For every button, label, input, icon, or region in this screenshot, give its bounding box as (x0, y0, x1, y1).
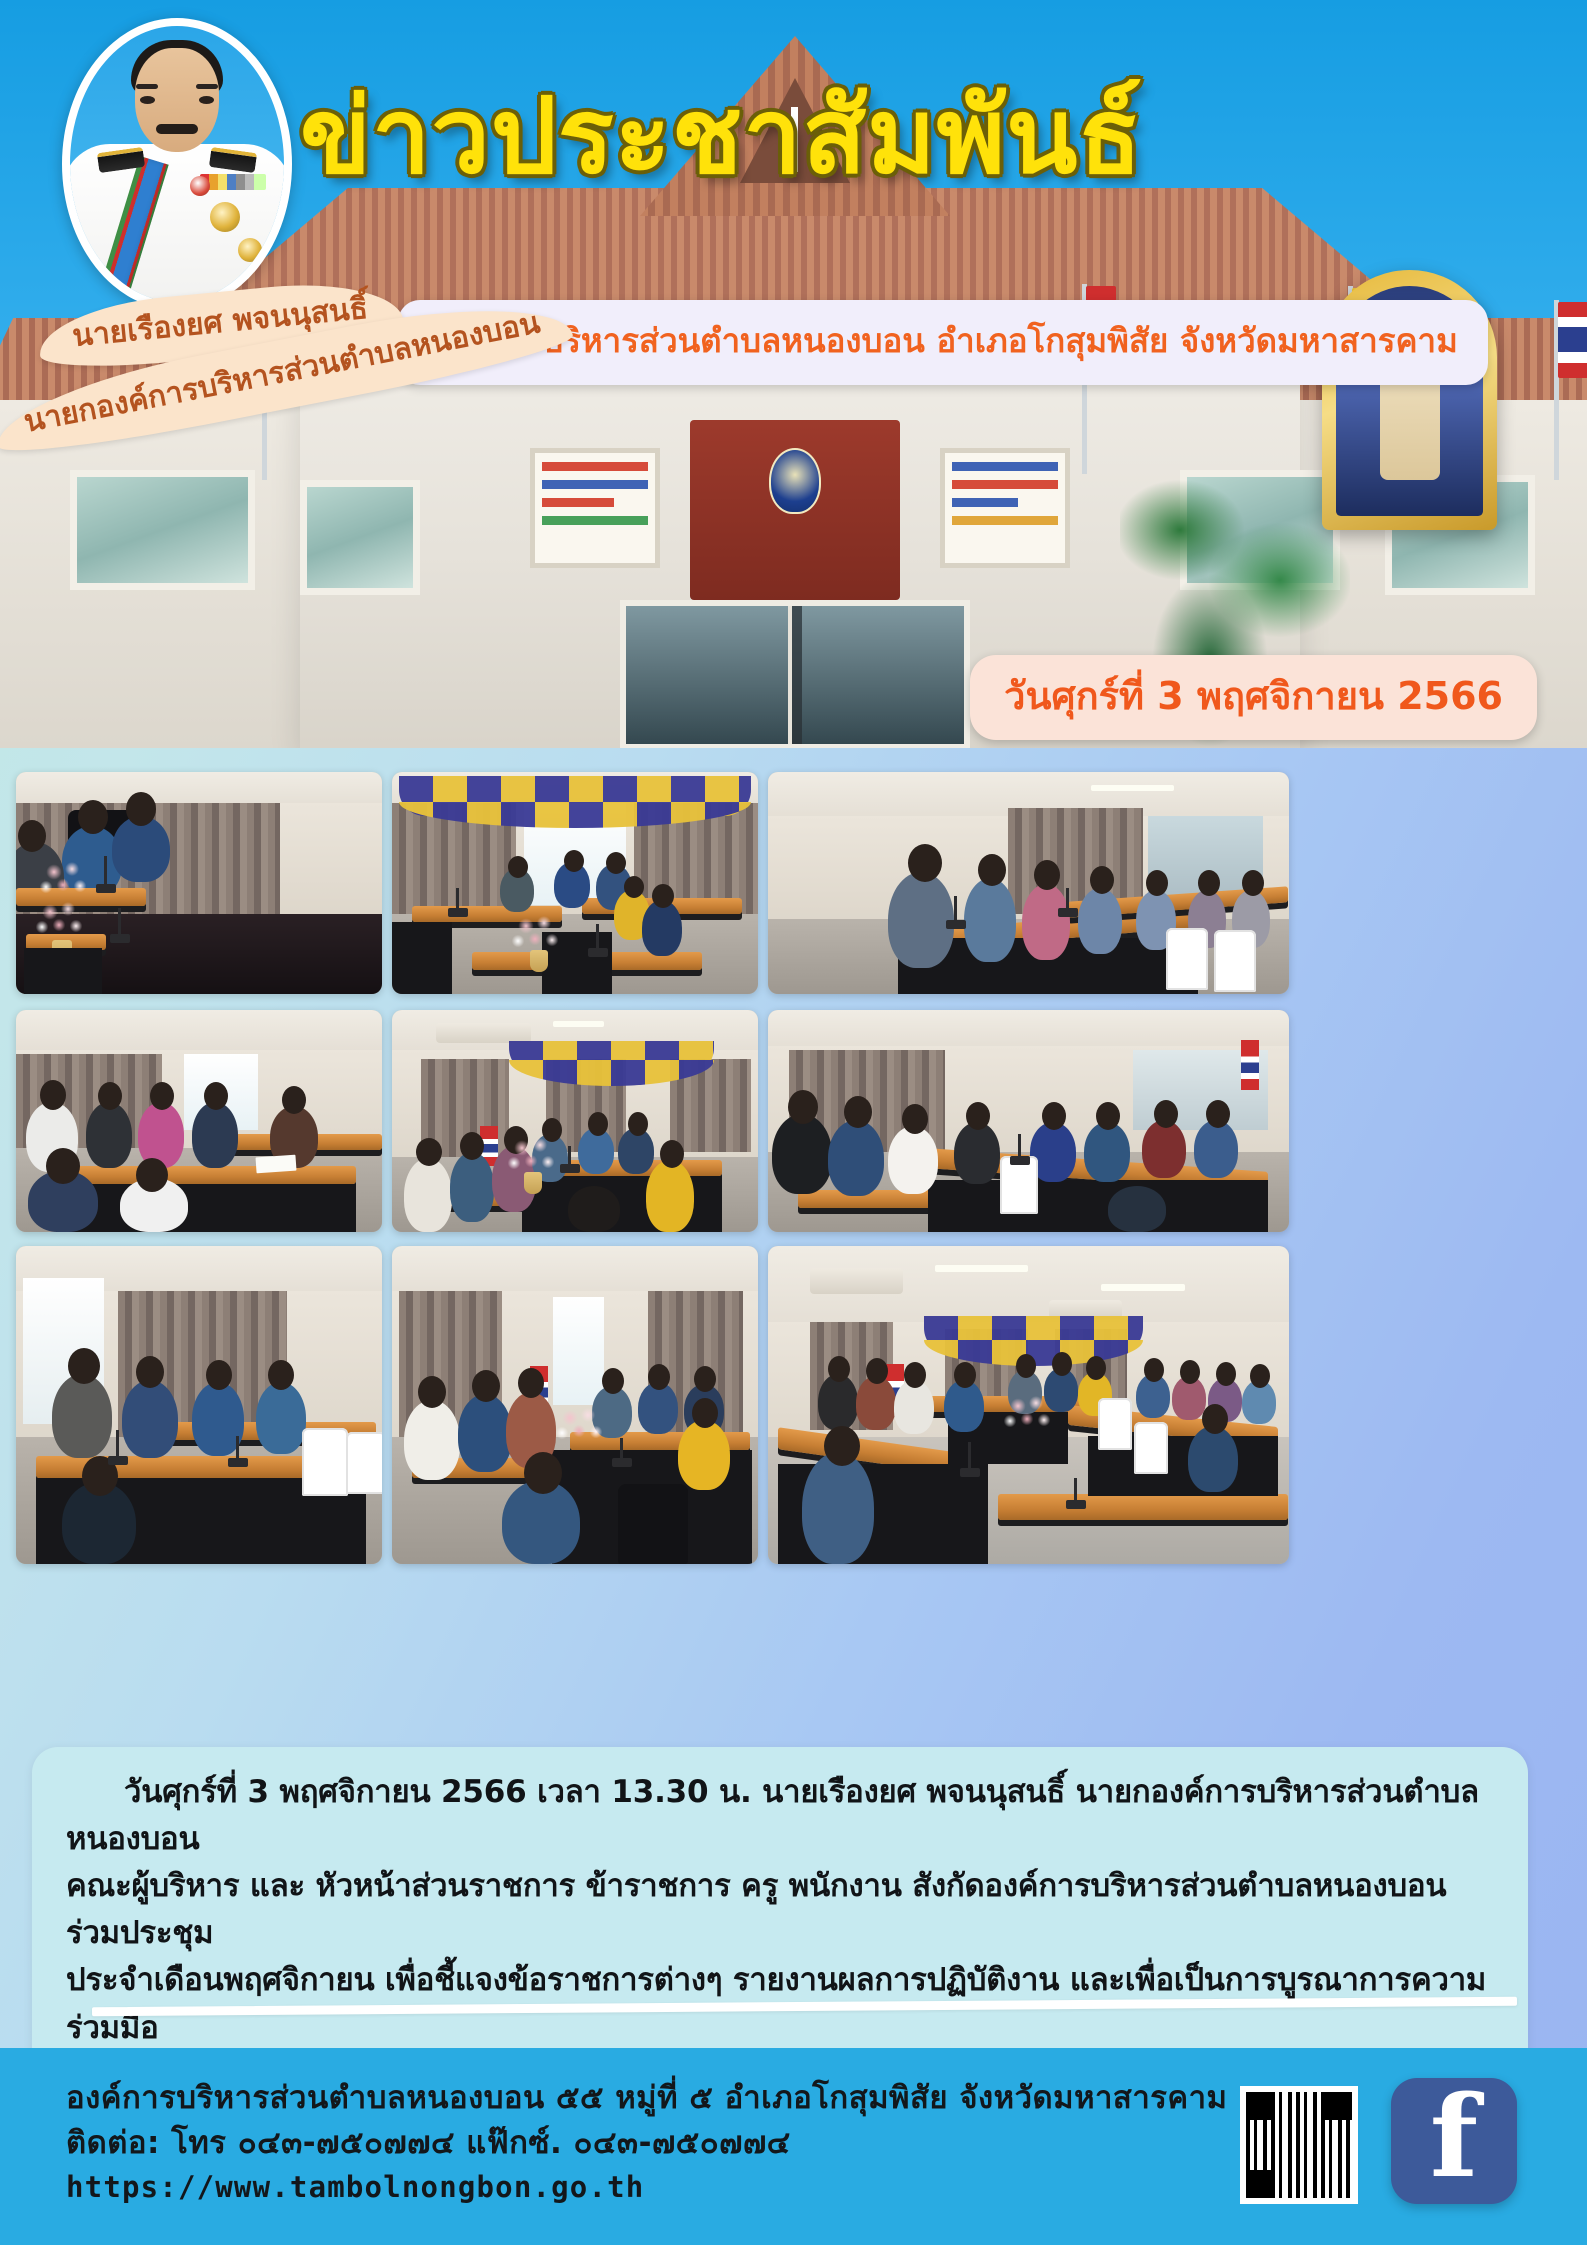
date-badge: วันศุกร์ที่ 3 พฤศจิกายน 2566 (970, 655, 1537, 740)
photo-person-head (204, 1082, 228, 1110)
photo-table-base (928, 1180, 1268, 1232)
photo-person (86, 1102, 132, 1168)
photo-person (52, 1374, 112, 1458)
photo-person (1194, 1120, 1238, 1178)
photo-microphone (1074, 1478, 1077, 1502)
footer-website-link[interactable]: https://www.tambolnongbon.go.th (66, 2166, 1227, 2208)
photo-person-head (908, 844, 942, 882)
photo-flower-arrangement (556, 1406, 608, 1446)
photo-person-head (1042, 1102, 1066, 1130)
qr-code[interactable] (1240, 2086, 1358, 2204)
building-window (300, 480, 420, 595)
gallery-photo[interactable] (392, 772, 758, 994)
photo-table-base (24, 948, 102, 994)
avatar-medal (190, 176, 210, 196)
photo-person-head (1096, 1102, 1120, 1130)
photo-decorative-swag (924, 1316, 1143, 1354)
poster-root: ข่าวประชาสัมพันธ์ องค์การบริหารส่วนตำบลห… (0, 0, 1587, 2245)
photo-person (256, 1382, 306, 1454)
photo-person-head (652, 884, 674, 908)
photo-person-head (660, 1140, 684, 1168)
photo-person-head (1250, 1364, 1270, 1388)
avatar (62, 18, 292, 310)
photo-microphone (116, 1430, 119, 1458)
photo-microphone (596, 924, 599, 950)
photo-person-head (1052, 1352, 1072, 1376)
photo-person-head (98, 1082, 122, 1110)
photo-microphone (954, 896, 957, 922)
photo-person (646, 1160, 694, 1232)
photo-person-head (564, 850, 584, 872)
photo-microphone (1066, 888, 1069, 910)
footer-contact-block: องค์การบริหารส่วนตำบลหนองบอน ๕๕ หมู่ที่ … (66, 2076, 1227, 2208)
photo-person (450, 1152, 494, 1222)
gallery-photo[interactable] (16, 1010, 382, 1232)
building-window (70, 470, 255, 590)
photo-person (856, 1376, 896, 1430)
photo-decorative-swag (509, 1041, 714, 1074)
photo-person-head (902, 1104, 928, 1134)
photo-person-head (524, 1452, 562, 1494)
photo-air-conditioner (810, 1268, 904, 1293)
photo-flower-arrangement (1004, 1394, 1054, 1428)
photo-person-head (966, 1102, 990, 1130)
photo-person-head (1198, 870, 1220, 896)
photo-person-head (206, 1360, 232, 1390)
photo-person (888, 1126, 938, 1194)
photo-person (1188, 1426, 1238, 1492)
photo-person-head (18, 820, 46, 852)
photo-person (642, 900, 682, 956)
photo-person-head (416, 1138, 442, 1166)
photo-person-head (268, 1360, 294, 1390)
photo-chair (346, 1432, 382, 1494)
avatar-medal (238, 238, 262, 262)
photo-person-head (40, 1080, 66, 1110)
photo-microphone (236, 1436, 239, 1460)
photo-person-head (978, 854, 1006, 886)
gallery-photo[interactable] (16, 1246, 382, 1564)
photo-person-head (1016, 1354, 1036, 1378)
photo-person-head (472, 1370, 500, 1402)
photo-chair (1166, 928, 1208, 990)
photo-ceiling-light (935, 1265, 1029, 1272)
photo-chair (1214, 930, 1256, 992)
photo-person-head (1034, 860, 1060, 890)
photo-decorative-swag (399, 776, 750, 816)
avatar-medal (210, 202, 240, 232)
avatar-eyebrow (136, 84, 158, 89)
notice-board-left (530, 448, 660, 568)
photo-person-head (126, 792, 156, 826)
hero-banner: ข่าวประชาสัมพันธ์ องค์การบริหารส่วนตำบลห… (0, 0, 1587, 748)
photo-person-head (68, 1348, 100, 1384)
photo-ceiling (392, 1246, 758, 1297)
photo-person (138, 1102, 184, 1168)
photo-person-head (1206, 1100, 1230, 1128)
photo-person (894, 1380, 934, 1434)
photo-person-head (828, 1356, 850, 1382)
photo-person-head (136, 1356, 164, 1388)
article-line: คณะผู้บริหาร และ หัวหน้าส่วนราชการ ข้ารา… (66, 1863, 1494, 1957)
photo-microphone (968, 1442, 971, 1470)
photo-person-head (1242, 870, 1264, 896)
photo-flower-arrangement (40, 860, 90, 900)
photo-person (954, 1122, 1000, 1184)
photo-person-head (1146, 870, 1168, 896)
official-seal-icon (769, 448, 821, 514)
photo-chair (1098, 1398, 1132, 1450)
photo-person-head (1086, 1356, 1106, 1380)
photo-person-head (904, 1362, 926, 1388)
photo-person-head (824, 1426, 860, 1466)
photo-person-head (954, 1362, 976, 1388)
photo-table (998, 1494, 1288, 1520)
avatar-eyebrow (196, 84, 218, 89)
avatar-eye (199, 96, 214, 104)
photo-person-head (866, 1358, 888, 1384)
photo-thai-flag (1241, 1040, 1259, 1090)
avatar-ribbon-bar (200, 174, 266, 190)
photo-person-head (1180, 1360, 1200, 1384)
photo-microphone (456, 888, 459, 910)
photo-person (122, 1380, 178, 1458)
avatar-uniform (62, 144, 292, 310)
photo-person-head (282, 1086, 306, 1114)
photo-person (1084, 1122, 1130, 1182)
photo-person-head (46, 1148, 80, 1184)
photo-chair (618, 1484, 688, 1564)
facebook-icon[interactable] (1391, 2078, 1517, 2204)
photo-person-head (694, 1366, 716, 1392)
photo-person (404, 1158, 452, 1232)
photo-person (828, 1120, 884, 1196)
photo-person (802, 1452, 874, 1564)
photo-chair (1134, 1422, 1168, 1474)
photo-microphone (568, 1146, 571, 1166)
photo-person-head (602, 1368, 624, 1394)
photo-person-head (844, 1096, 872, 1128)
footer-contact: ติดต่อ: โทร ๐๔๓-๗๕๐๗๗๔ แฟ๊กซ์. ๐๔๓-๗๕๐๗๗… (66, 2121, 1227, 2166)
photo-person (1108, 1186, 1166, 1232)
photo-person-head (418, 1376, 446, 1408)
photo-person-head (788, 1090, 818, 1124)
photo-person-head (1216, 1362, 1236, 1386)
gallery-photo[interactable] (768, 1246, 1289, 1564)
photo-person-head (78, 800, 108, 834)
qr-code-pattern (1246, 2092, 1352, 2198)
gallery-photo[interactable] (16, 772, 382, 994)
photo-ceiling (16, 1010, 382, 1054)
photo-microphone (104, 856, 107, 886)
photo-ceiling-light (1101, 1284, 1184, 1291)
photo-person-head (150, 1082, 174, 1110)
photo-person-head (628, 1112, 648, 1136)
photo-window (553, 1297, 604, 1405)
photo-person (772, 1114, 832, 1194)
gallery-photo[interactable] (392, 1246, 758, 1564)
photo-microphone (620, 1438, 623, 1460)
avatar-eye (140, 96, 155, 104)
photo-person-head (624, 876, 644, 898)
footer: องค์การบริหารส่วนตำบลหนองบอน ๕๕ หมู่ที่ … (0, 2048, 1587, 2245)
photo-person (678, 1420, 730, 1490)
photo-gallery-row-1 (16, 772, 1571, 994)
building-red-door (690, 420, 900, 600)
photo-person-head (648, 1364, 670, 1390)
thai-flag (1558, 302, 1587, 378)
photo-person (568, 1186, 620, 1232)
photo-person (404, 1400, 460, 1480)
photo-document (255, 1155, 296, 1174)
notice-board-right (940, 448, 1070, 568)
footer-address: องค์การบริหารส่วนตำบลหนองบอน ๕๕ หมู่ที่ … (66, 2076, 1227, 2121)
photo-person (458, 1394, 512, 1472)
building-entrance-doors (620, 600, 970, 748)
photo-person-head (508, 856, 528, 878)
photo-ceiling-light (1091, 785, 1174, 791)
photo-ceiling (768, 1010, 1289, 1050)
photo-ceiling-light (553, 1021, 604, 1027)
photo-person-head (606, 852, 626, 874)
avatar-moustache (156, 124, 198, 134)
photo-person (1142, 1120, 1186, 1178)
photo-person-head (518, 1368, 544, 1398)
article-line: วันศุกร์ที่ 3 พฤศจิกายน 2566 เวลา 13.30 … (66, 1769, 1494, 1863)
photo-table-base (56, 1184, 356, 1232)
photo-person (1022, 884, 1070, 960)
photo-person-head (1202, 1404, 1228, 1434)
photo-microphone (118, 908, 121, 936)
photo-flower-arrangement (508, 1136, 560, 1176)
gallery-photo[interactable] (392, 1010, 758, 1232)
photo-person (818, 1374, 858, 1430)
photo-person-head (1154, 1100, 1178, 1128)
photo-vase (530, 950, 548, 972)
page-title: ข่าวประชาสัมพันธ์ (300, 82, 1143, 191)
photo-table (56, 1166, 356, 1184)
photo-person-head (136, 1158, 168, 1192)
photo-chair (302, 1428, 348, 1496)
photo-person (888, 872, 954, 968)
photo-person-head (1090, 866, 1114, 894)
photo-person-head (460, 1132, 484, 1160)
photo-gallery-row-3 (16, 1246, 1571, 1586)
photo-table-base (392, 922, 452, 994)
gallery-photo[interactable] (768, 772, 1289, 994)
photo-person-head (1144, 1358, 1164, 1382)
photo-person (964, 878, 1016, 962)
photo-person (192, 1102, 238, 1168)
gallery-photo[interactable] (768, 1010, 1289, 1232)
photo-person (1078, 888, 1122, 954)
photo-vase (524, 1172, 542, 1194)
photo-gallery-row-2 (16, 1010, 1571, 1232)
photo-person-head (692, 1398, 718, 1428)
photo-microphone (1018, 1134, 1021, 1158)
photo-person-head (588, 1112, 608, 1136)
